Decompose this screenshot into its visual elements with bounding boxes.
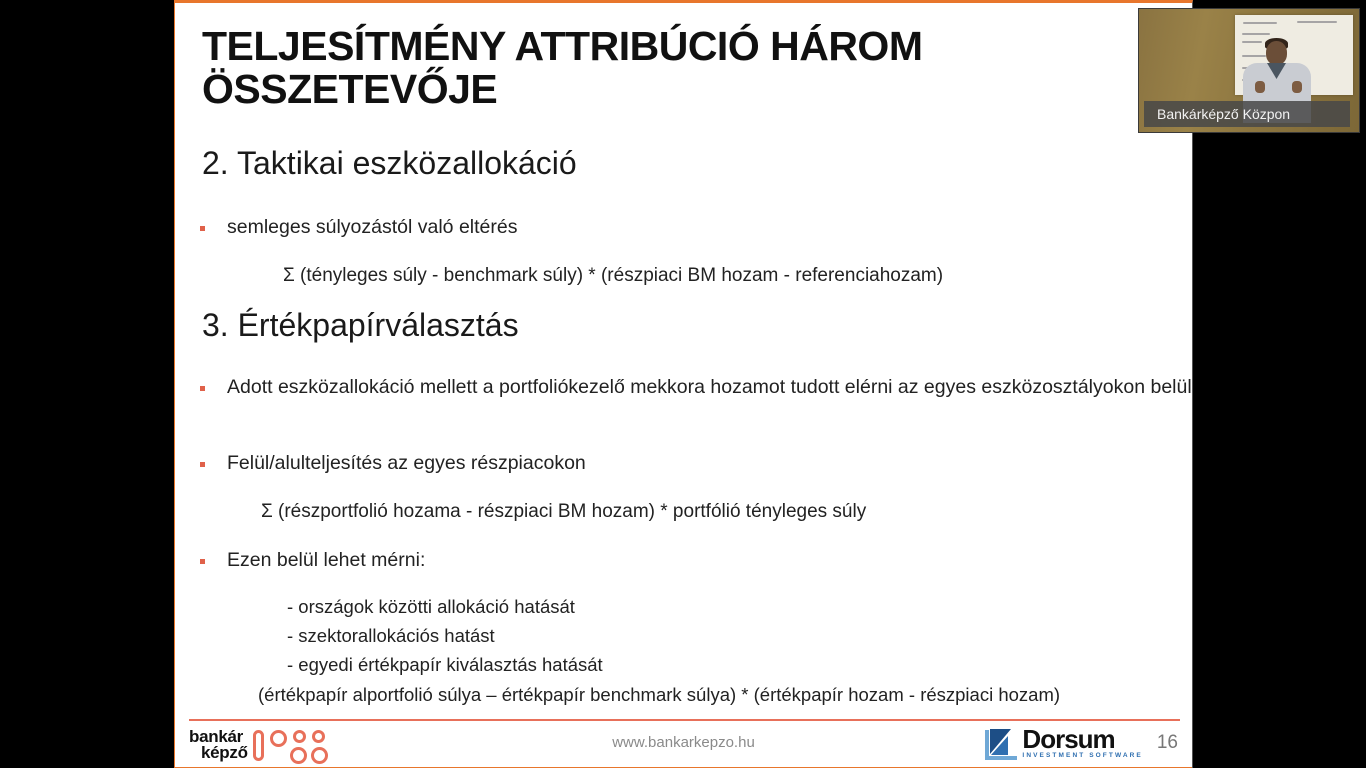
title-line-1: TELJESÍTMÉNY ATTRIBÚCIÓ HÁROM [202, 25, 1162, 68]
bullet-marker-icon [200, 386, 205, 391]
bullet-item: semleges súlyozástól való eltérés [200, 215, 900, 239]
title-line-2: ÖSSZETEVŐJE [202, 68, 1162, 111]
bullet-marker-icon [200, 226, 205, 231]
bullet-text: Adott eszközallokáció mellett a portfoli… [227, 375, 1193, 399]
bullet-text: Ezen belül lehet mérni: [227, 548, 425, 572]
bullet-item: Felül/alulteljesítés az egyes részpiacok… [200, 451, 900, 475]
sub-list-item: - szektorallokációs hatást [287, 624, 495, 647]
dorsum-sail-icon [985, 728, 1019, 760]
formula-line-2: Σ (részportfolió hozama - részpiaci BM h… [261, 500, 866, 524]
formula-line-3: (értékpapír alportfolió súlya – értékpap… [258, 684, 1060, 706]
section-heading-2: 2. Taktikai eszközallokáció [202, 146, 577, 181]
participant-name-label: Bankárképző Közpon [1144, 101, 1350, 127]
logo-sail-shape [991, 736, 1008, 755]
formula-line-1: Σ (tényleges súly - benchmark súly) * (r… [283, 264, 943, 288]
webcam-video-overlay[interactable]: Bankárképző Közpon [1138, 8, 1360, 133]
sub-list-item: - egyedi értékpapír kiválasztás hatását [287, 653, 603, 676]
participant-name-text: Bankárképző Közpon [1157, 106, 1290, 122]
page-number: 16 [1157, 732, 1178, 754]
dorsum-logo: Dorsum INVESTMENT SOFTWARE [985, 726, 1142, 760]
screen: TELJESÍTMÉNY ATTRIBÚCIÓ HÁROM ÖSSZETEVŐJ… [0, 0, 1366, 768]
presenter-figure [1292, 81, 1302, 93]
bullet-marker-icon [200, 462, 205, 467]
section-heading-3: 3. Értékpapírválasztás [202, 308, 519, 343]
dorsum-tagline: INVESTMENT SOFTWARE [1022, 753, 1142, 760]
bullet-marker-icon [200, 559, 205, 564]
presenter-figure [1255, 81, 1265, 93]
slide-footer: bankár képző www.bankarkepzo.hu [175, 721, 1192, 768]
bullet-text: Felül/alulteljesítés az egyes részpiacok… [227, 451, 586, 475]
presentation-slide: TELJESÍTMÉNY ATTRIBÚCIÓ HÁROM ÖSSZETEVŐJ… [174, 0, 1193, 768]
dorsum-wordmark: Dorsum INVESTMENT SOFTWARE [1022, 726, 1142, 760]
page-title: TELJESÍTMÉNY ATTRIBÚCIÓ HÁROM ÖSSZETEVŐJ… [202, 25, 1162, 112]
dorsum-branding: Dorsum INVESTMENT SOFTWARE 16 [985, 726, 1178, 760]
bullet-text: semleges súlyozástól való eltérés [227, 215, 517, 239]
presenter-figure [1266, 41, 1287, 65]
sub-list-item: - országok közötti allokáció hatását [287, 595, 575, 618]
bullet-item: Adott eszközallokáció mellett a portfoli… [200, 375, 1345, 399]
dorsum-name: Dorsum [1022, 726, 1142, 752]
bullet-item: Ezen belül lehet mérni: [200, 548, 900, 572]
